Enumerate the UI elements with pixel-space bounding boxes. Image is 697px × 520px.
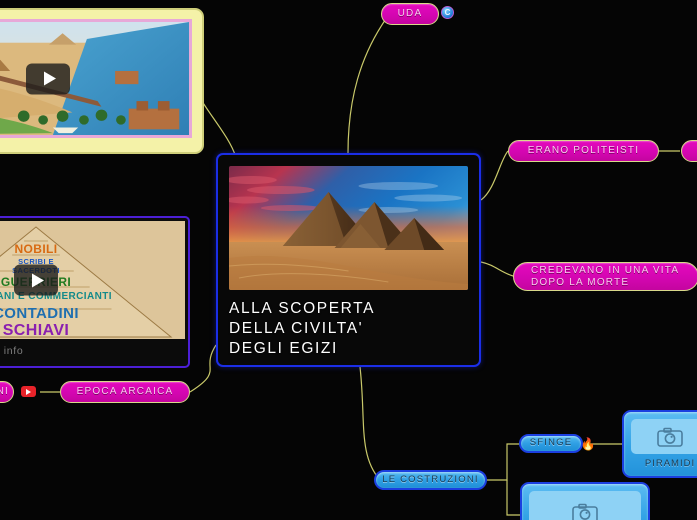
camera-icon bbox=[529, 491, 641, 520]
social-pyramid-panel[interactable]: FARAONE NOBILI SCRIBI E SACERDOTI GUERRI… bbox=[0, 216, 190, 368]
central-node[interactable]: ALLA SCOPERTA DELLA CIVILTA' DEGLI EGIZI bbox=[216, 153, 481, 367]
camera-icon bbox=[631, 419, 697, 454]
node-erano-politeisti[interactable]: ERANO POLITEISTI bbox=[508, 140, 659, 162]
card-label-piramidi: PIRAMIDI bbox=[645, 454, 695, 469]
link-badge-icon[interactable]: C bbox=[441, 6, 454, 19]
play-triangle bbox=[44, 72, 56, 86]
pyramid-level-contadini: CONTADINI bbox=[0, 305, 185, 322]
play-icon[interactable] bbox=[26, 63, 70, 94]
mindmap-canvas[interactable]: FARAONE NOBILI SCRIBI E SACERDOTI GUERRI… bbox=[0, 0, 697, 520]
pyramid-level-schiavi: SCHIAVI bbox=[0, 322, 185, 339]
play-triangle bbox=[32, 273, 44, 287]
play-icon[interactable] bbox=[14, 265, 58, 296]
pyramids-illustration bbox=[229, 166, 468, 290]
play-triangle bbox=[26, 389, 31, 395]
node-uda[interactable]: UDA bbox=[381, 3, 439, 25]
panel-caption: Additional info bbox=[0, 339, 185, 357]
node-le-costruzioni[interactable]: LE COSTRUZIONI bbox=[374, 470, 487, 490]
social-pyramid-thumbnail[interactable]: FARAONE NOBILI SCRIBI E SACERDOTI GUERRI… bbox=[0, 221, 185, 339]
node-epoca-arcaica[interactable]: EPOCA ARCAICA bbox=[60, 381, 190, 403]
nile-video-panel[interactable] bbox=[0, 8, 204, 154]
camera-glyph bbox=[657, 427, 683, 447]
node-cutoff-right[interactable] bbox=[681, 140, 697, 162]
camera-glyph bbox=[572, 503, 598, 520]
node-sfinge[interactable]: SFINGE bbox=[519, 434, 583, 453]
card-bottom-image[interactable] bbox=[520, 482, 650, 520]
pyramids-sunset-photo[interactable] bbox=[229, 166, 468, 290]
flame-icon[interactable]: 🔥 bbox=[582, 436, 594, 451]
page-title: ALLA SCOPERTA DELLA CIVILTA' DEGLI EGIZI bbox=[229, 299, 468, 358]
nile-video-thumbnail[interactable] bbox=[0, 19, 192, 138]
youtube-badge-icon[interactable] bbox=[21, 386, 36, 397]
card-piramidi[interactable]: PIRAMIDI bbox=[622, 410, 697, 478]
pyramid-level-nobili: NOBILI bbox=[0, 242, 185, 256]
node-cutoff-left[interactable]: NI bbox=[0, 381, 14, 403]
node-credevano-vita-dopo-morte[interactable]: CREDEVANO IN UNA VITA DOPO LA MORTE bbox=[513, 262, 697, 291]
